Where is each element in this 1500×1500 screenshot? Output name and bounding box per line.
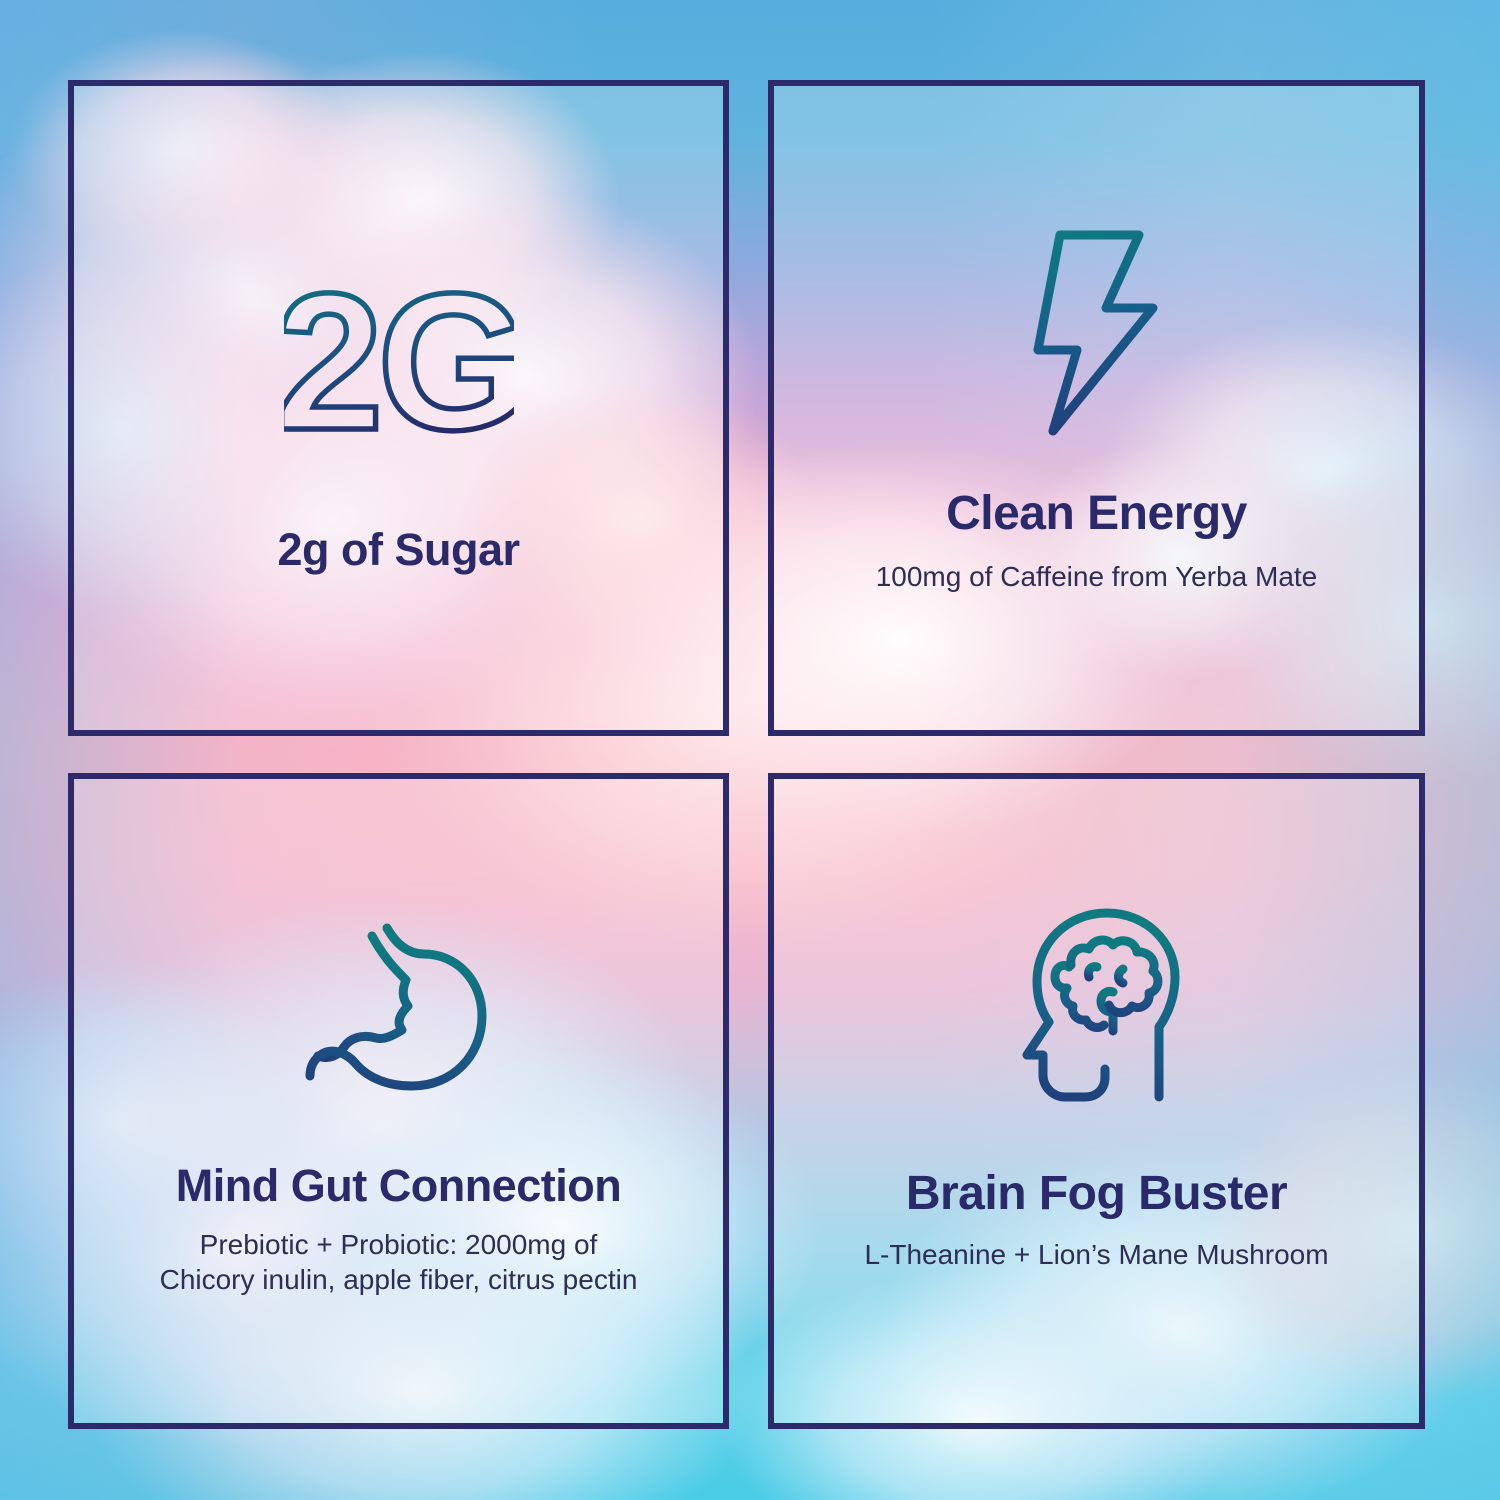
feature-panel-gut: Mind Gut Connection Prebiotic + Probioti… bbox=[68, 773, 729, 1429]
panel-subtitle-line2: Chicory inulin, apple fiber, citrus pect… bbox=[160, 1262, 638, 1297]
feature-panel-brain: Brain Fog Buster L-Theanine + Lion’s Man… bbox=[768, 773, 1425, 1429]
panel-subtitle: Prebiotic + Probiotic: 2000mg of Chicory… bbox=[160, 1227, 638, 1297]
feature-panel-energy: Clean Energy 100mg of Caffeine from Yerb… bbox=[768, 80, 1425, 736]
feature-grid: 2G 2g of Sugar bbox=[68, 80, 1425, 1429]
stomach-icon bbox=[284, 914, 514, 1104]
2g-outline-text-icon: 2G bbox=[284, 264, 514, 464]
lightning-bolt-icon bbox=[1027, 226, 1167, 441]
panel-title: Clean Energy bbox=[946, 489, 1247, 539]
panel-title: 2g of Sugar bbox=[277, 526, 519, 573]
head-brain-icon bbox=[1009, 907, 1184, 1107]
panel-title: Brain Fog Buster bbox=[906, 1169, 1287, 1219]
panel-subtitle: 100mg of Caffeine from Yerba Mate bbox=[876, 559, 1318, 594]
panel-title: Mind Gut Connection bbox=[176, 1162, 621, 1209]
feature-panel-sugar: 2G 2g of Sugar bbox=[68, 80, 729, 736]
svg-text:2G: 2G bbox=[284, 264, 514, 464]
panel-subtitle: L-Theanine + Lion’s Mane Mushroom bbox=[864, 1237, 1328, 1272]
panel-subtitle-line1: Prebiotic + Probiotic: 2000mg of bbox=[160, 1227, 638, 1262]
